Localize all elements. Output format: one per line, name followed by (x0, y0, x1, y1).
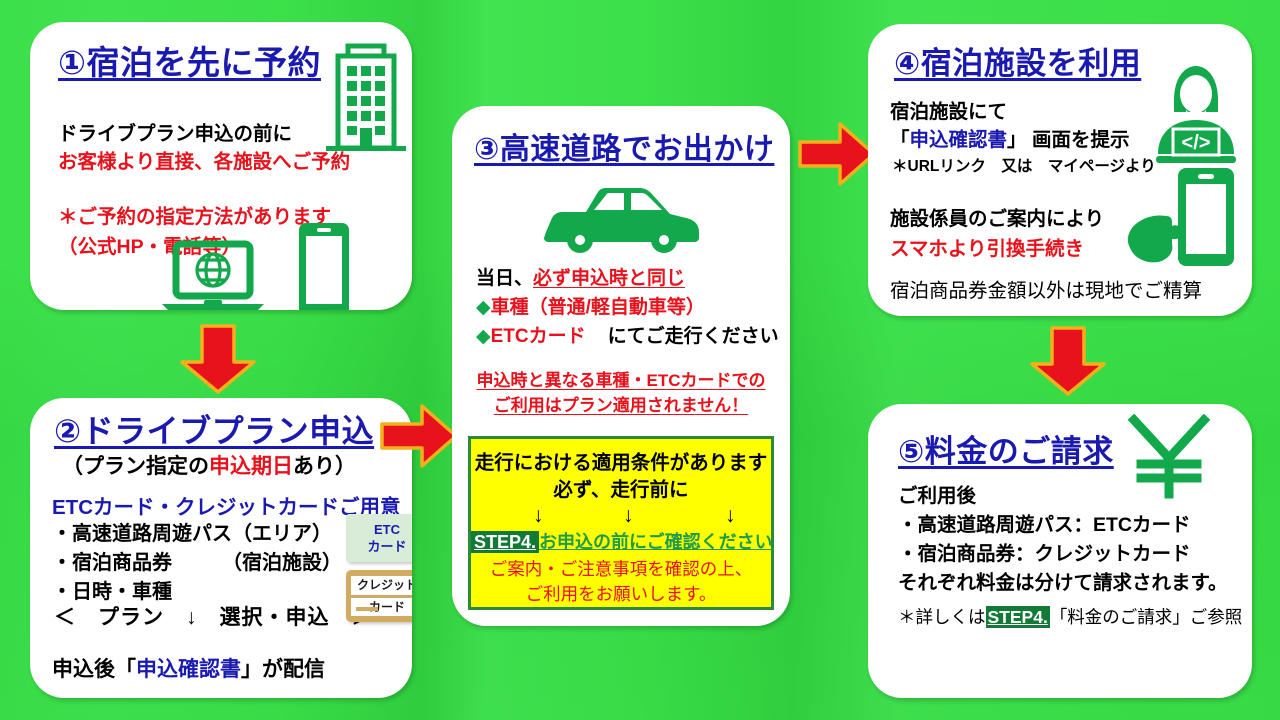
card2-footer-post: 」が配信 (241, 658, 325, 681)
infographic-root: ①宿泊を先に予約 ドライブプラン申込の前に お客様より直接、各施設へご予約 ＊ご… (0, 0, 1280, 720)
card2-footer-pre: 申込後「 (52, 658, 136, 681)
step4-tag[interactable]: STEP4. (986, 606, 1050, 628)
card4-line-4: 施設係員のご案内により (890, 204, 1104, 234)
card2-subtitle: （プラン指定の申込期日あり） (62, 450, 356, 480)
card2-flow: ＜ プラン ↓ 選択・申込 ＞ (54, 601, 374, 631)
card4-line-2-pre: 「 (890, 129, 910, 151)
card5-footer-pre: ＊詳しくは (898, 607, 986, 627)
card3-warning: 申込時と異なる車種・ETCカードでの ご利用はプラン適用されません！ (470, 368, 772, 418)
card3-bullet-1-text: 車種（普通/軽自動車等） (491, 297, 705, 318)
card3-day-prefix: 当日、 (476, 268, 533, 289)
card5-line-3: ・宿泊商品券：クレジットカード (898, 540, 1228, 569)
credit-card-strip (356, 607, 378, 611)
card4-line-2-highlight: 申込確認書 (910, 129, 1008, 151)
card4-line-2: 「申込確認書」 画面を提示 (890, 126, 1129, 154)
card1-line-1: ドライブプラン申込の前に (58, 120, 350, 148)
card5-list: ご利用後 ・高速道路周遊パス：ETCカード ・宿泊商品券：クレジットカード それ… (898, 482, 1228, 598)
card1-title: ①宿泊を先に予約 (58, 36, 321, 84)
card5-footer[interactable]: ＊詳しくはSTEP4.「料金のご請求」ご参照 (898, 604, 1242, 629)
list-item: ・高速道路周遊パス（エリア） (52, 520, 342, 549)
card-step-5: ⑤料金のご請求 ご利用後 ・高速道路周遊パス：ETCカード ・宿泊商品券：クレジ… (868, 404, 1252, 698)
card3-title: ③高速道路でお出かけ (474, 124, 774, 168)
card2-subtitle-post: あり） (293, 455, 356, 478)
smartphone-icon (295, 220, 353, 310)
etc-card-line-2: カード (367, 538, 406, 555)
card5-title: ⑤料金のご請求 (898, 426, 1114, 471)
card1-paragraph-1: ドライブプラン申込の前に お客様より直接、各施設へご予約 (58, 120, 350, 176)
arrow-card4-to-card5 (1026, 324, 1110, 398)
card-step-2: ②ドライブプラン申込 （プラン指定の申込期日あり） ETCカード・クレジットカー… (30, 398, 412, 698)
card2-footer: 申込後「申込確認書」が配信 (52, 653, 325, 683)
arrow-card3-to-card4 (796, 120, 878, 188)
card2-subtitle-highlight: 申込期日 (209, 455, 293, 478)
card3-bullet-2-suffix: にてご走行ください (586, 326, 779, 347)
down-arrow-icon: ↓ (725, 504, 736, 528)
etc-card-icon: ETC カード (346, 514, 412, 562)
card3-bullet-2-text: ETCカード (491, 326, 586, 347)
card-step-3: ③高速道路でお出かけ 当日、必ず申込時と同じ ◆車種（普通/軽自動車等） ◆ET… (452, 106, 790, 626)
card3-bullet-2: ◆ETCカードにてご走行ください (476, 322, 779, 351)
person-laptop-code-icon: </> (1144, 54, 1248, 170)
card3-conditions: 当日、必ず申込時と同じ ◆車種（普通/軽自動車等） ◆ETCカードにてご走行くだ… (476, 264, 779, 351)
card4-line-1: 宿泊施設にて (890, 98, 1129, 126)
card3-highlight-box: 走行における適用条件があります 必ず、走行前に ↓ ↓ ↓ STEP4.お申込の… (468, 436, 774, 610)
card3-step-link[interactable]: STEP4.お申込の前にご確認ください (471, 528, 771, 554)
credit-card-icon: クレジット カード (346, 570, 412, 622)
card1-line-3: ＊ご予約の指定方法があります (58, 202, 331, 232)
card-step-4: ④宿泊施設を利用 </> 宿泊施設にて 「申込確認書」 画面を提示 ＊ (868, 24, 1252, 316)
card4-title: ④宿泊施設を利用 (894, 38, 1141, 83)
step4-link-text[interactable]: お申込の前にご確認ください (539, 532, 773, 552)
car-icon (536, 182, 706, 258)
card4-line-2-post: 」 画面を提示 (1007, 129, 1129, 151)
card-step-1: ①宿泊を先に予約 ドライブプラン申込の前に お客様より直接、各施設へご予約 ＊ご… (30, 22, 412, 310)
card5-line-1: ご利用後 (898, 482, 1228, 511)
card4-paragraph-2: 施設係員のご案内により スマホより引換手続き (890, 204, 1104, 264)
down-arrow-icon: ↓ (623, 504, 634, 528)
hand-tapping-phone-icon (1124, 166, 1250, 276)
card5-line-4: それぞれ料金は分けて請求されます。 (898, 569, 1228, 598)
card3-warning-line-1: 申込時と異なる車種・ETCカードでの (470, 368, 772, 393)
card4-line-6: 宿泊商品券金額以外は現地でご精算 (890, 274, 1202, 303)
step4-tag[interactable]: STEP4. (471, 531, 539, 553)
card5-footer-post: 「料金のご請求」ご参照 (1050, 607, 1243, 627)
card2-subtitle-pre: （プラン指定の (62, 455, 209, 478)
card4-paragraph-1: 宿泊施設にて 「申込確認書」 画面を提示 (890, 98, 1129, 154)
card3-note-line-2: ご利用をお願いします。 (471, 582, 771, 607)
diamond-bullet-icon: ◆ (476, 326, 491, 347)
card3-box-line-2: 必ず、走行前に (471, 477, 771, 504)
list-item: ・宿泊商品券 （宿泊施設） (52, 549, 342, 578)
card3-note-line-1: ご案内・ご注意事項を確認の上、 (471, 557, 771, 582)
card2-title: ②ドライブプラン申込 (54, 406, 374, 452)
diamond-bullet-icon: ◆ (476, 297, 491, 318)
card3-box-line-1: 走行における適用条件があります (471, 450, 771, 477)
card3-box-note: ご案内・ご注意事項を確認の上、 ご利用をお願いします。 (471, 557, 771, 607)
card3-box-arrows: ↓ ↓ ↓ (471, 504, 771, 530)
card3-bullet-1: ◆車種（普通/軽自動車等） (476, 293, 779, 322)
card3-day-line: 当日、必ず申込時と同じ (476, 264, 779, 293)
arrow-card1-to-card2 (176, 322, 260, 396)
credit-card-line-1: クレジット (351, 576, 412, 595)
card4-url-note: ＊URLリンク 又は マイページより (892, 154, 1156, 176)
card3-warning-line-2: ご利用はプラン適用されません！ (470, 393, 772, 418)
etc-card-line-1: ETC (374, 521, 400, 538)
svg-text:</>: </> (1182, 132, 1211, 154)
card1-line-2: お客様より直接、各施設へご予約 (58, 148, 350, 176)
down-arrow-icon: ↓ (533, 504, 544, 528)
arrow-card2-to-card3 (378, 402, 460, 470)
card2-footer-highlight: 申込確認書 (136, 658, 241, 681)
card3-day-highlight: 必ず申込時と同じ (533, 268, 685, 289)
card2-list: ・高速道路周遊パス（エリア） ・宿泊商品券 （宿泊施設） ・日時・車種 (52, 520, 342, 607)
card4-line-5: スマホより引換手続き (890, 234, 1104, 264)
laptop-globe-icon (158, 240, 268, 310)
card5-line-2: ・高速道路周遊パス：ETCカード (898, 511, 1228, 540)
